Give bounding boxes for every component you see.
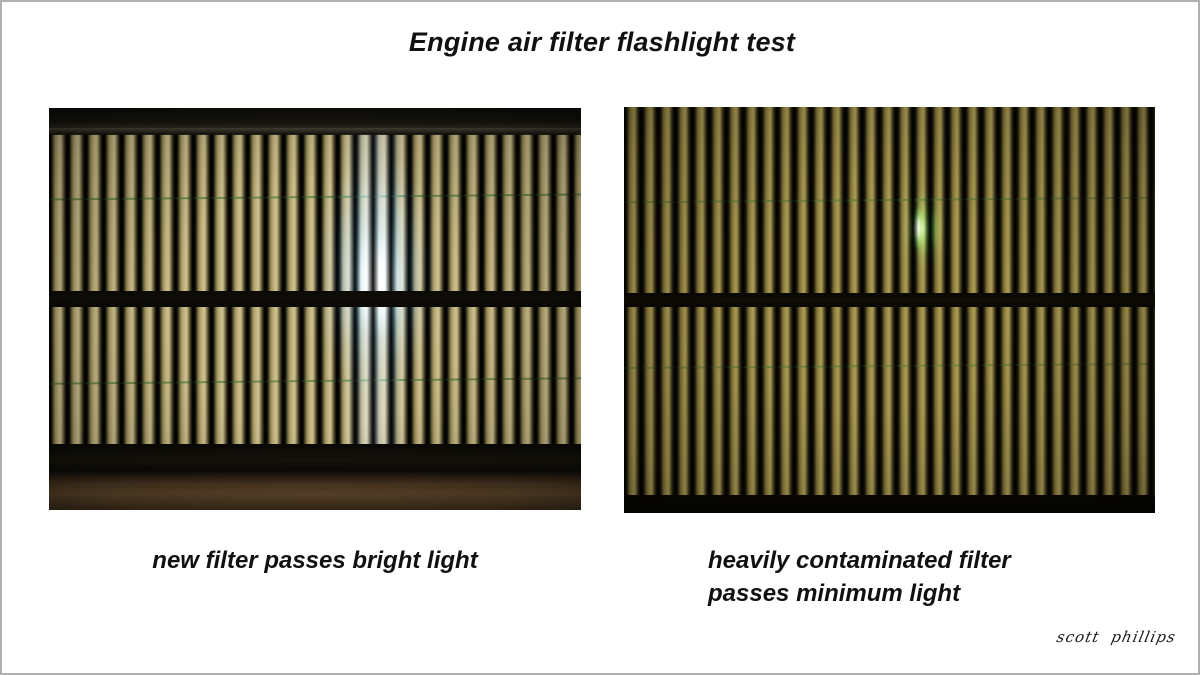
caption-contaminated-filter: heavily contaminated filter passes minim…	[708, 544, 1148, 610]
photo-contaminated-filter: Heavily contaminated engine air filter w…	[624, 107, 1155, 513]
filter-center-support-bar-new	[49, 291, 581, 307]
caption-contaminated-line-1: heavily contaminated filter	[708, 544, 1148, 577]
signature-scott-phillips: scott phillips	[1055, 628, 1178, 646]
filter-pleat-shadows-contaminated	[624, 107, 1155, 513]
page-title: Engine air filter flashlight test	[2, 27, 1200, 58]
filter-center-support-bar-contaminated	[624, 293, 1155, 307]
caption-contaminated-line-2: passes minimum light	[708, 577, 1148, 610]
table-surface-new	[49, 470, 581, 510]
slide-canvas: Engine air filter flashlight test New en…	[0, 0, 1200, 675]
photo-new-filter: New engine air filter photographed with …	[49, 108, 581, 510]
filter-bottom-frame-new	[49, 444, 581, 472]
filter-bottom-frame-contaminated	[624, 495, 1155, 513]
filter-top-lip-new	[49, 128, 581, 135]
caption-new-filter: new filter passes bright light	[49, 544, 581, 577]
